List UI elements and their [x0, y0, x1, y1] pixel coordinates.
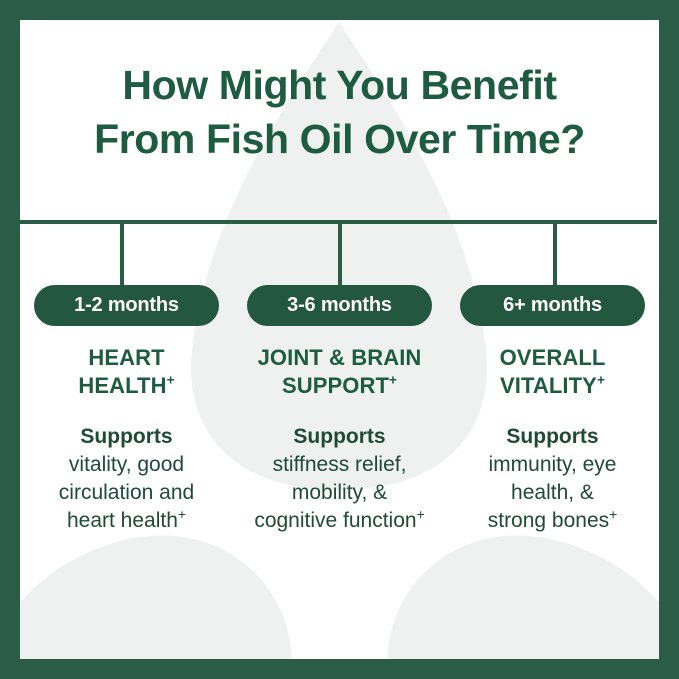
- timeframe-pill-3[interactable]: 6+ months: [460, 285, 645, 326]
- timeline-tick-2: [338, 222, 342, 294]
- benefit-lead-3: Supports: [488, 423, 618, 451]
- benefit-body-2: Supportsstiffness relief, mobility, & co…: [254, 423, 424, 535]
- benefit-heading-2-sup: +: [389, 372, 397, 387]
- benefit-detail-2-sup: +: [417, 506, 425, 522]
- benefit-body-1: Supportsvitality, good circulation and h…: [59, 423, 194, 535]
- benefit-column-1: 1-2 months HEART HEALTH+ Supportsvitalit…: [20, 285, 233, 535]
- benefit-column-3: 6+ months OVERALL VITALITY+ Supportsimmu…: [446, 285, 659, 535]
- benefit-body-3: Supportsimmunity, eye health, & strong b…: [488, 423, 618, 535]
- timeframe-pill-1[interactable]: 1-2 months: [34, 285, 219, 326]
- benefit-column-2: 3-6 months JOINT & BRAIN SUPPORT+ Suppor…: [233, 285, 446, 535]
- benefit-heading-3-sup: +: [597, 372, 605, 387]
- title-line-2: From Fish Oil Over Time?: [20, 112, 659, 166]
- benefit-detail-3-sup: +: [609, 506, 617, 522]
- left-leaf-shape: [20, 535, 291, 659]
- timeline-tick-3: [553, 222, 557, 294]
- benefit-detail-3: immunity, eye health, & strong bones: [488, 453, 617, 532]
- benefit-heading-1: HEART HEALTH+: [78, 344, 174, 399]
- infographic-root: How Might You Benefit From Fish Oil Over…: [0, 0, 679, 679]
- page-title: How Might You Benefit From Fish Oil Over…: [20, 58, 659, 166]
- benefit-columns: 1-2 months HEART HEALTH+ Supportsvitalit…: [20, 285, 659, 535]
- benefit-heading-3: OVERALL VITALITY+: [500, 344, 606, 399]
- timeframe-pill-2[interactable]: 3-6 months: [247, 285, 432, 326]
- benefit-heading-1-text: HEART HEALTH: [78, 345, 166, 398]
- title-line-1: How Might You Benefit: [20, 58, 659, 112]
- benefit-lead-1: Supports: [59, 423, 194, 451]
- benefit-heading-3-text: OVERALL VITALITY: [500, 345, 606, 398]
- right-leaf-shape: [388, 535, 659, 659]
- benefit-detail-1: vitality, good circulation and heart hea…: [59, 453, 194, 532]
- benefit-detail-1-sup: +: [178, 506, 186, 522]
- benefit-detail-2: stiffness relief, mobility, & cognitive …: [254, 453, 416, 532]
- benefit-heading-1-sup: +: [167, 372, 175, 387]
- infographic-canvas: How Might You Benefit From Fish Oil Over…: [20, 20, 659, 659]
- benefit-heading-2: JOINT & BRAIN SUPPORT+: [258, 344, 422, 399]
- timeline-tick-1: [120, 222, 124, 294]
- timeline-rail: [20, 220, 657, 224]
- benefit-lead-2: Supports: [254, 423, 424, 451]
